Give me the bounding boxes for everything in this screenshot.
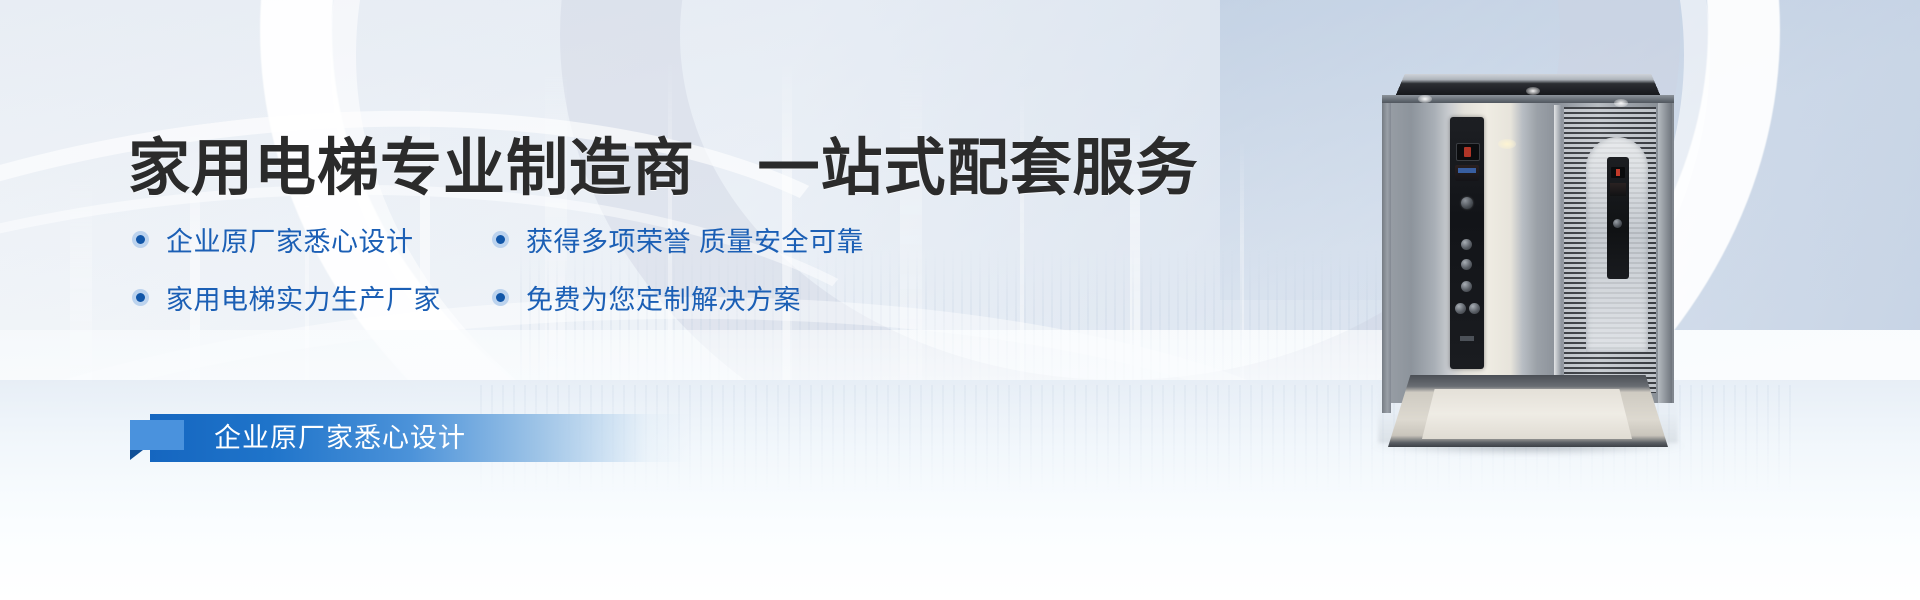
floor-indicator-display	[1456, 143, 1480, 161]
feature-item-manufacturer: 家用电梯实力生产厂家	[132, 278, 492, 317]
door-open-button	[1455, 303, 1466, 314]
feature-list: 企业原厂家悉心设计 获得多项荣誉 质量安全可靠 家用电梯实力生产厂家 免费为您定…	[132, 210, 1032, 326]
page-title: 家用电梯专业制造商 一站式配套服务	[128, 117, 1199, 207]
elevator-floor-tile	[1422, 389, 1632, 439]
feature-item-custom-solution: 免费为您定制解决方案	[492, 278, 952, 317]
feature-row-1: 企业原厂家悉心设计 获得多项荣誉 质量安全可靠	[132, 210, 1032, 268]
door-close-button	[1469, 303, 1480, 314]
elevator-right-frame	[1658, 103, 1672, 403]
floor-button-2	[1461, 259, 1472, 270]
elevator-control-panel	[1450, 117, 1484, 369]
bullet-dot-icon	[492, 231, 509, 248]
elevator-secondary-panel	[1607, 157, 1629, 279]
secondary-keyswitch	[1613, 219, 1622, 228]
secondary-info-screen	[1610, 183, 1626, 196]
ceiling-light-3	[1614, 99, 1628, 107]
floor-button-3	[1461, 281, 1472, 292]
elevator-product-image	[1378, 45, 1678, 465]
headline-part-2: 一站式配套服务	[757, 134, 1198, 203]
ceiling-light-2	[1526, 87, 1540, 95]
tag-label: 企业原厂家悉心设计	[214, 414, 466, 462]
feature-label: 家用电梯实力生产厂家	[166, 278, 441, 317]
bullet-dot-icon	[132, 289, 149, 306]
banner-content: 家用电梯专业制造商 一站式配套服务 企业原厂家悉心设计 获得多项荣誉 质量安全可…	[0, 0, 1150, 600]
highlight-tag[interactable]: 企业原厂家悉心设计	[130, 414, 690, 462]
feature-label: 企业原厂家悉心设计	[166, 220, 414, 259]
elevator-corner-edge	[1554, 105, 1561, 405]
feature-item-design: 企业原厂家悉心设计	[132, 220, 492, 259]
info-screen	[1455, 165, 1479, 181]
bullet-dot-icon	[492, 289, 509, 306]
bullet-dot-icon	[132, 231, 149, 248]
floor-button-1	[1461, 239, 1472, 250]
keyswitch	[1461, 197, 1473, 209]
feature-label: 获得多项荣誉 质量安全可靠	[526, 220, 864, 259]
hero-banner: 家用电梯专业制造商 一站式配套服务 企业原厂家悉心设计 获得多项荣誉 质量安全可…	[0, 0, 1920, 600]
headline-part-1: 家用电梯专业制造商	[128, 134, 695, 203]
feature-item-honors: 获得多项荣誉 质量安全可靠	[492, 220, 952, 259]
bookmark-flag-icon	[130, 420, 184, 450]
secondary-floor-display	[1611, 167, 1625, 178]
cabin-spotlight-glow	[1498, 139, 1516, 149]
ceiling-light-1	[1418, 95, 1432, 103]
feature-row-2: 家用电梯实力生产厂家 免费为您定制解决方案	[132, 268, 1032, 326]
feature-label: 免费为您定制解决方案	[526, 278, 801, 317]
panel-brand-mark	[1460, 336, 1474, 341]
elevator-left-frame	[1382, 103, 1391, 413]
